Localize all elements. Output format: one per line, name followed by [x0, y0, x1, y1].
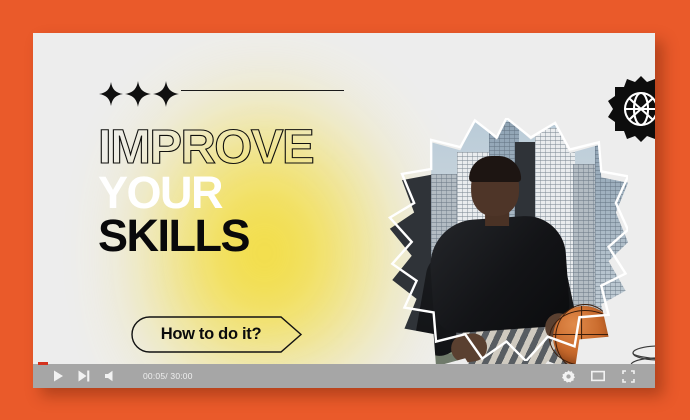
headline-line-2: YOUR — [98, 173, 388, 213]
volume-icon — [104, 370, 116, 382]
photo-mask — [385, 118, 628, 388]
athlete-photo — [385, 118, 628, 388]
controls-left-group: 00:05/ 30:00 — [47, 364, 193, 388]
play-button[interactable] — [47, 364, 69, 388]
next-track-icon — [78, 370, 90, 382]
how-to-do-it-button[interactable]: How to do it? — [131, 316, 303, 353]
headline-block: IMPROVE YOUR SKILLS — [98, 127, 388, 255]
top-sparkle-group — [99, 81, 179, 107]
settings-button[interactable] — [557, 364, 579, 388]
basketball-icon — [553, 306, 615, 368]
cta-label: How to do it? — [131, 316, 291, 353]
fullscreen-button[interactable] — [617, 364, 639, 388]
video-thumbnail-card: IMPROVE YOUR SKILLS How to do it? — [33, 33, 655, 388]
next-track-button[interactable] — [73, 364, 95, 388]
volume-button[interactable] — [99, 364, 121, 388]
time-display: 00:05/ 30:00 — [143, 371, 193, 381]
brand-logo-badge[interactable] — [607, 75, 655, 143]
headline-line-3: SKILLS — [98, 216, 388, 256]
decorative-rule — [181, 90, 344, 91]
gear-icon — [562, 370, 575, 383]
progress-bar-indicator[interactable] — [38, 362, 48, 365]
controls-right-group — [557, 364, 639, 388]
sparkle-filled-icon — [125, 81, 151, 107]
headline-line-1: IMPROVE — [98, 127, 394, 169]
sparkle-filled-icon — [153, 81, 179, 107]
sparkle-filled-icon — [99, 82, 123, 106]
photo-athlete-figure — [405, 156, 601, 388]
theater-mode-icon — [591, 370, 605, 382]
video-player-controls[interactable]: 00:05/ 30:00 — [33, 364, 655, 388]
globe-badge-icon — [607, 75, 655, 143]
fullscreen-icon — [622, 370, 635, 383]
play-icon — [53, 370, 64, 382]
screenshot-root: IMPROVE YOUR SKILLS How to do it? — [0, 0, 690, 420]
theater-mode-button[interactable] — [587, 364, 609, 388]
